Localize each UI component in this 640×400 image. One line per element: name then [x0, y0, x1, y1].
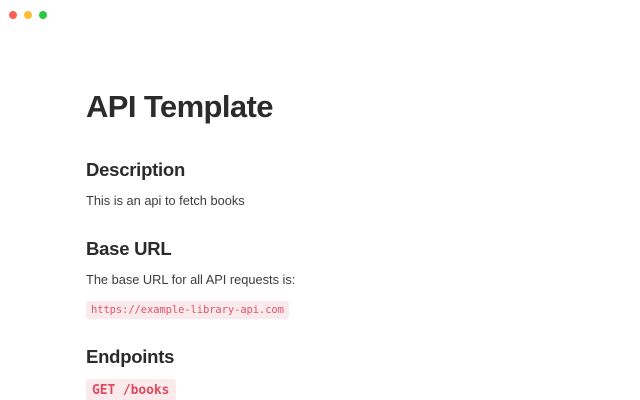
endpoint-method-path-chip[interactable]: GET /books — [86, 379, 176, 400]
minimize-window-button[interactable] — [24, 11, 32, 19]
window-controls — [9, 11, 47, 19]
description-body-text: This is an api to fetch books — [86, 192, 556, 211]
close-window-button[interactable] — [9, 11, 17, 19]
section-heading-endpoints: Endpoints — [86, 346, 556, 368]
document-scroll-area[interactable]: API Template Description This is an api … — [0, 28, 640, 400]
base-url-code-chip[interactable]: https://example-library-api.com — [86, 301, 289, 319]
document-content: API Template Description This is an api … — [0, 28, 556, 400]
maximize-window-button[interactable] — [39, 11, 47, 19]
window-titlebar — [0, 0, 640, 28]
section-endpoints: Endpoints GET /books Returns a list of a… — [86, 346, 556, 400]
section-heading-description: Description — [86, 159, 556, 181]
page-title: API Template — [86, 90, 556, 124]
endpoint-entry: GET /books — [86, 379, 556, 400]
section-spacer — [86, 211, 556, 238]
section-base-url: Base URL The base URL for all API reques… — [86, 238, 556, 319]
section-spacer — [86, 319, 556, 346]
section-heading-base-url: Base URL — [86, 238, 556, 260]
section-description: Description This is an api to fetch book… — [86, 159, 556, 211]
base-url-body-text: The base URL for all API requests is: — [86, 271, 556, 290]
app-window: API Template Description This is an api … — [0, 0, 640, 400]
